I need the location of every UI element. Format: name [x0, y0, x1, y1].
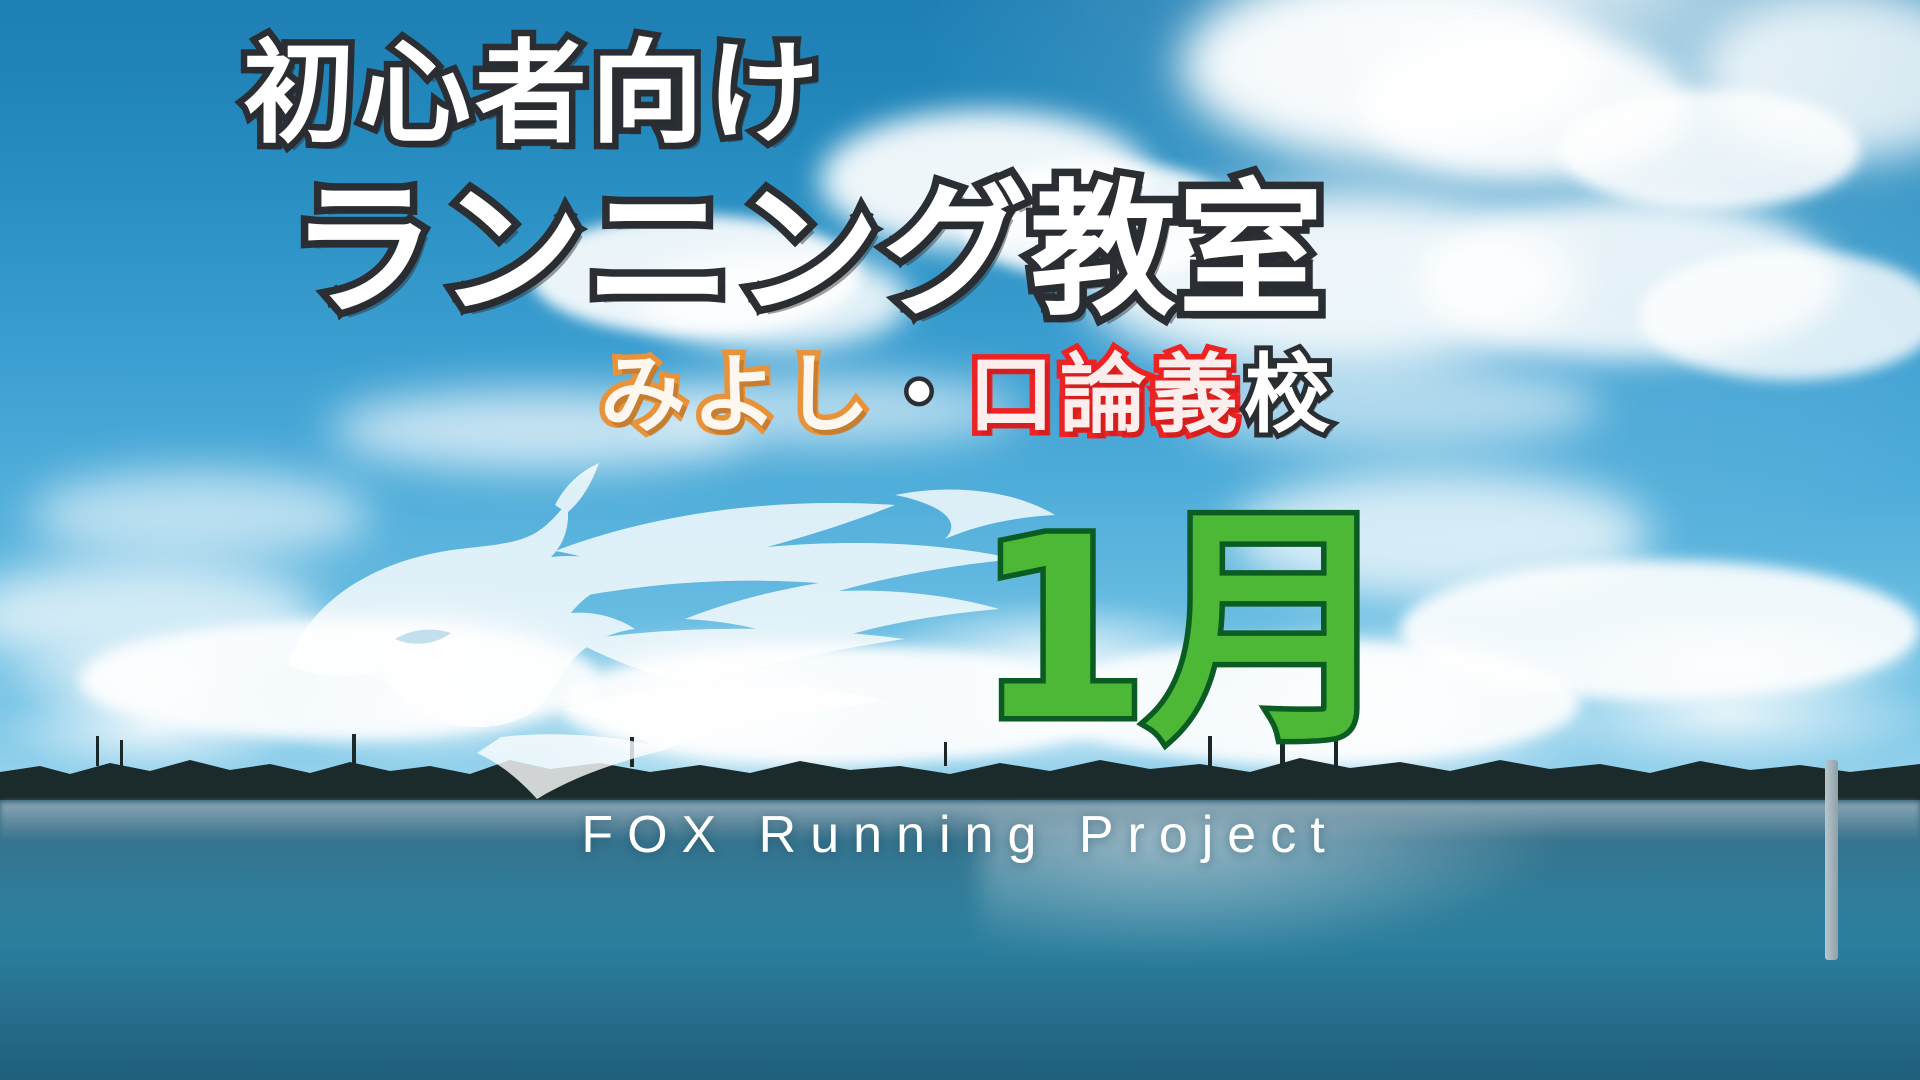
poster-text-layer: 初心者向け ランニング教室 みよし・口論義校 1月 FOX Running Pr…: [0, 0, 1920, 1080]
subtitle-location-miyoshi: みよし: [600, 345, 876, 445]
subtitle-location-kurogi: 口論義: [968, 345, 1244, 445]
month-badge: 1月: [975, 505, 1391, 755]
subtitle-separator-dot: ・: [876, 345, 968, 445]
subtitle-line: みよし・口論義校: [600, 352, 1336, 438]
poster-canvas: 初心者向け ランニング教室 みよし・口論義校 1月 FOX Running Pr…: [0, 0, 1920, 1080]
headline-line-1: 初心者向け: [243, 38, 823, 150]
headline-line-2: ランニング教室: [290, 178, 1326, 324]
subtitle-school-suffix: 校: [1244, 345, 1336, 445]
footer-wordmark: FOX Running Project: [0, 805, 1920, 865]
